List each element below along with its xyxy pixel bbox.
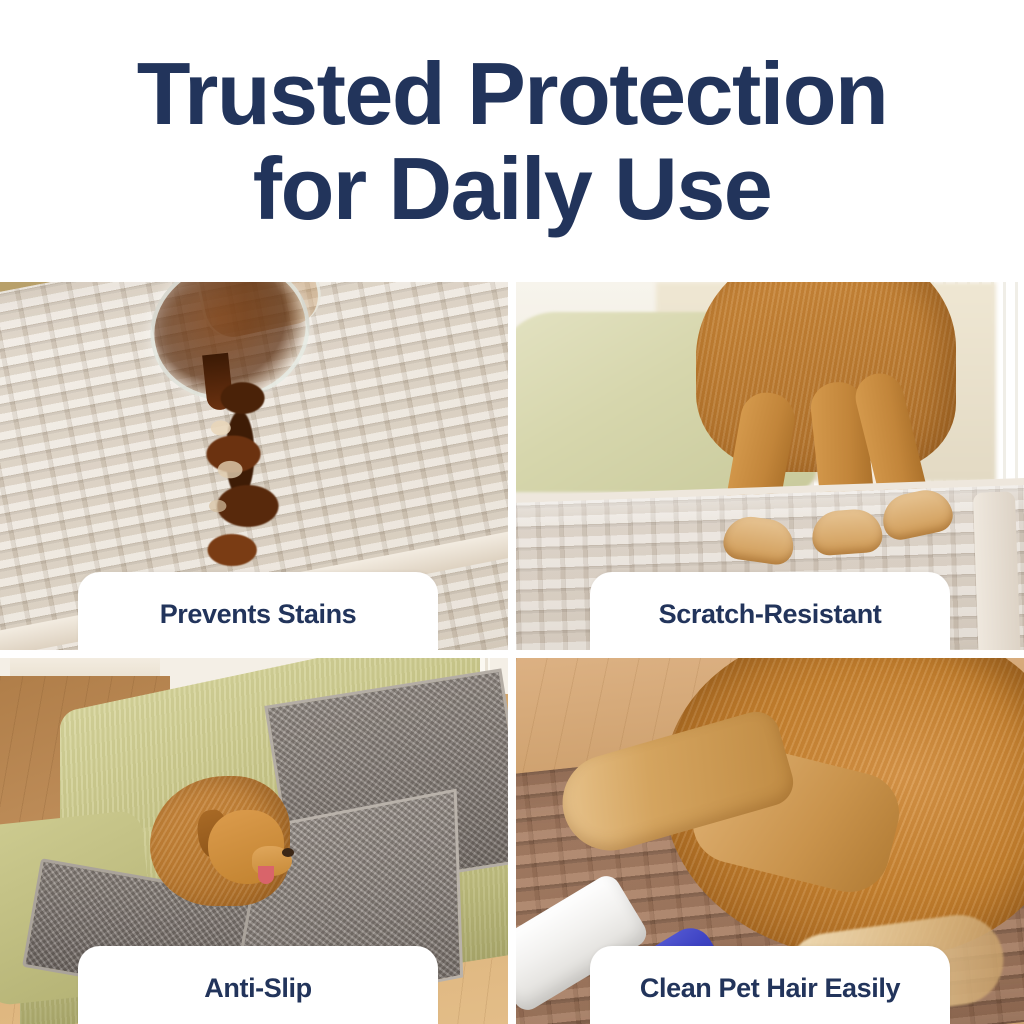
feature-tile-grid: Prevents Stains Scratc	[0, 282, 1024, 1024]
feature-label-card: Anti-Slip	[78, 946, 438, 1024]
feature-tile-scratch-resistant[interactable]: Scratch-Resistant	[516, 282, 1024, 650]
feature-tile-prevents-stains[interactable]: Prevents Stains	[0, 282, 508, 650]
feature-label-text: Anti-Slip	[204, 973, 311, 1004]
feature-label-text: Prevents Stains	[160, 599, 357, 630]
headline-line-2: for Daily Use	[253, 141, 771, 236]
feature-tile-anti-slip[interactable]: Anti-Slip	[0, 658, 508, 1024]
dog-tongue	[258, 866, 274, 884]
cover-edge-binding	[973, 491, 1021, 650]
feature-label-card: Prevents Stains	[78, 572, 438, 650]
headline-line-1: Trusted Protection	[137, 46, 887, 141]
feature-label-text: Clean Pet Hair Easily	[640, 973, 900, 1004]
feature-label-card: Scratch-Resistant	[590, 572, 950, 650]
feature-tile-clean-pet-hair[interactable]: Clean Pet Hair Easily	[516, 658, 1024, 1024]
feature-label-card: Clean Pet Hair Easily	[590, 946, 950, 1024]
feature-grid-page: Trusted Protection for Daily Use Prevent…	[0, 0, 1024, 1024]
page-title: Trusted Protection for Daily Use	[0, 0, 1024, 282]
feature-label-text: Scratch-Resistant	[659, 599, 882, 630]
stain-highlight	[196, 402, 258, 532]
dog-nose	[282, 848, 294, 857]
